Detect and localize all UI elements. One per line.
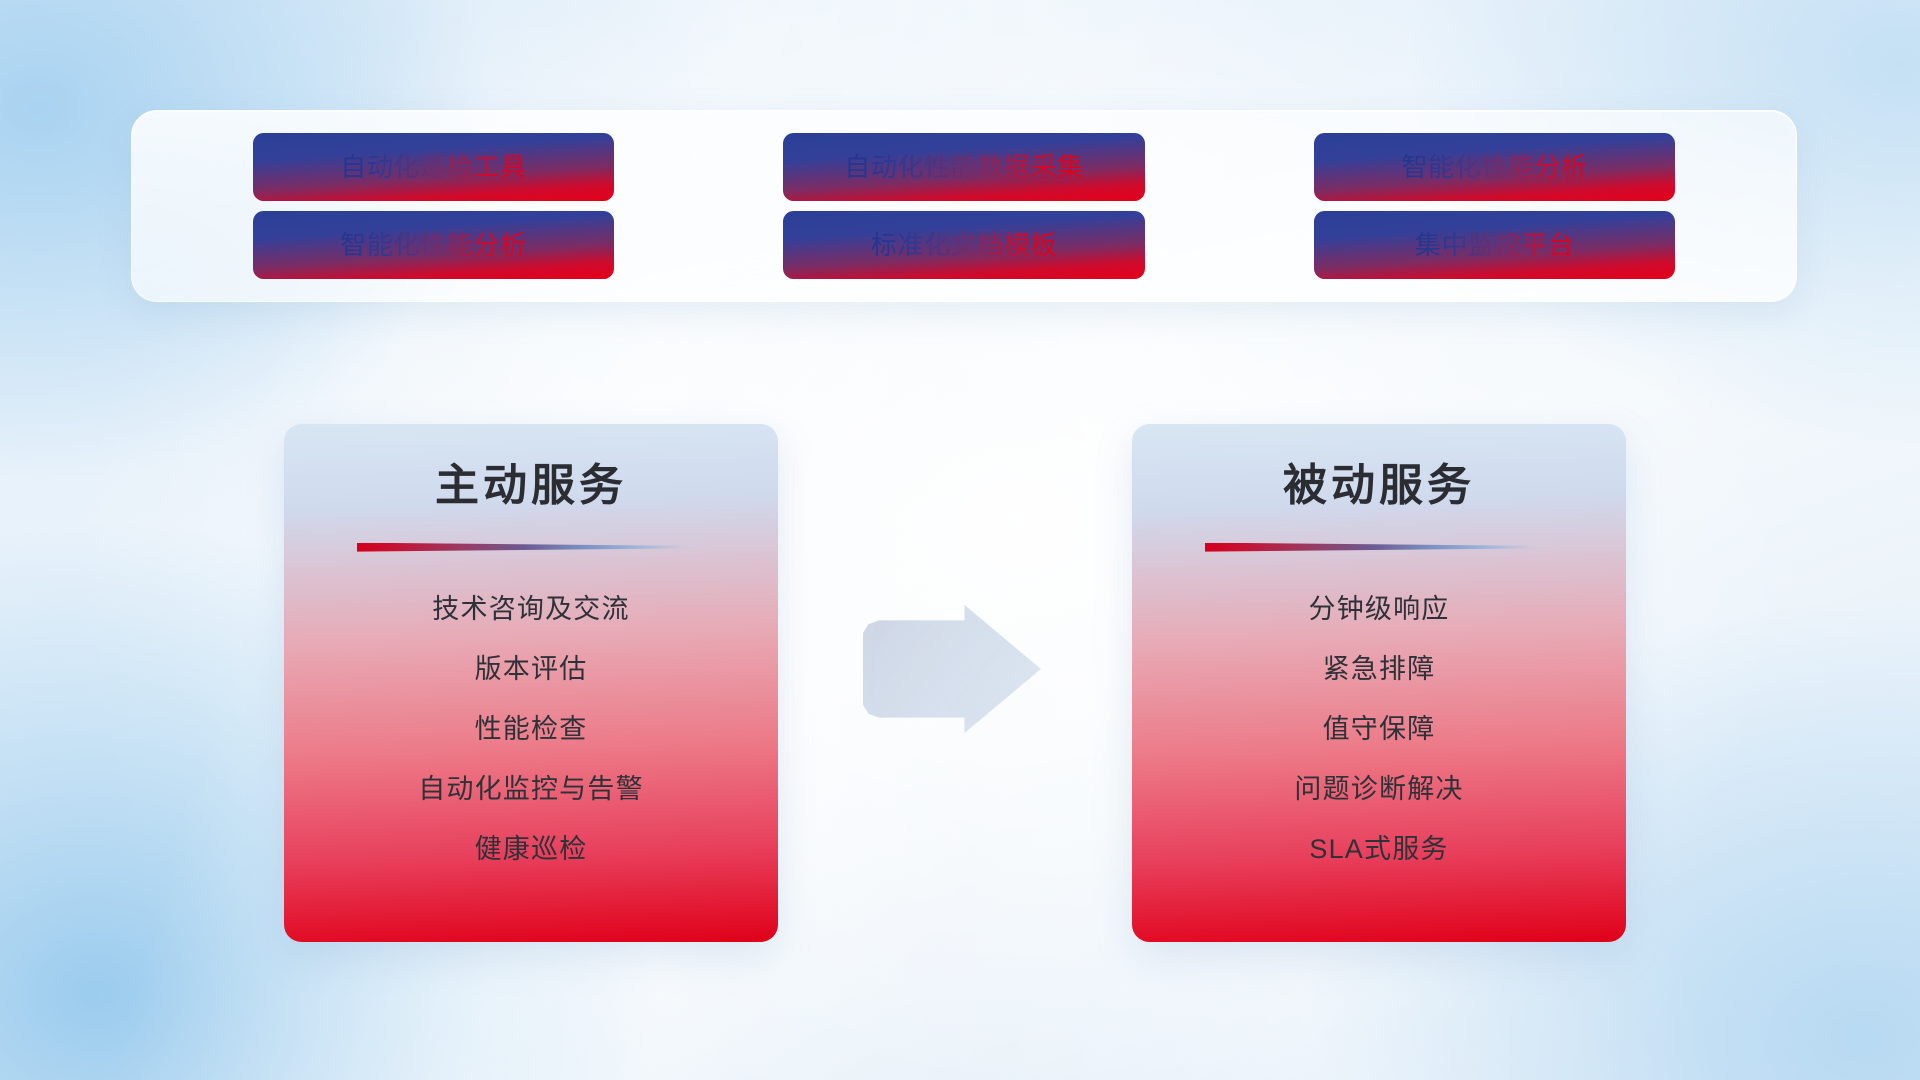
- service-card-active[interactable]: 主动服务 技术咨询及交流 版本评估 性能检查 自动化监控与告警 健康巡检: [285, 425, 777, 941]
- service-card-title: 被动服务: [1133, 461, 1625, 512]
- capability-tag-label: 智能化性能分析: [340, 232, 526, 258]
- capability-tag-panel: 自动化巡检工具 自动化性能数据采集 智能化性能分析 智能化性能分析 标准化文档模…: [131, 110, 1797, 302]
- diagram-stage: 自动化巡检工具 自动化性能数据采集 智能化性能分析 智能化性能分析 标准化文档模…: [0, 0, 1920, 1080]
- capability-tag-label: 集中监控平台: [1415, 232, 1575, 258]
- service-list-item[interactable]: 性能检查: [285, 700, 777, 760]
- capability-tag-label: 自动化巡检工具: [340, 154, 526, 180]
- service-list-item[interactable]: 技术咨询及交流: [285, 580, 777, 640]
- service-list-item[interactable]: 版本评估: [285, 640, 777, 700]
- capability-tag[interactable]: 智能化性能分析: [1316, 135, 1674, 199]
- capability-tag-label: 自动化性能数据采集: [844, 154, 1083, 180]
- capability-tag[interactable]: 集中监控平台: [1316, 213, 1674, 277]
- card-divider: [1205, 543, 1553, 552]
- service-card-title: 主动服务: [285, 461, 777, 512]
- capability-tag[interactable]: 标准化文档模板: [785, 213, 1143, 277]
- service-item-list: 分钟级响应 紧急排障 值守保障 问题诊断解决 SLA式服务: [1133, 580, 1625, 880]
- card-divider: [357, 543, 705, 552]
- capability-tag-label: 标准化文档模板: [871, 232, 1057, 258]
- service-list-item[interactable]: 值守保障: [1133, 700, 1625, 760]
- service-item-list: 技术咨询及交流 版本评估 性能检查 自动化监控与告警 健康巡检: [285, 580, 777, 880]
- service-list-item[interactable]: 自动化监控与告警: [285, 760, 777, 820]
- capability-tag[interactable]: 智能化性能分析: [254, 213, 612, 277]
- service-card-passive[interactable]: 被动服务 分钟级响应 紧急排障 值守保障 问题诊断解决 SLA式服务: [1133, 425, 1625, 941]
- arrow-right-icon: [863, 605, 1041, 733]
- capability-tag[interactable]: 自动化巡检工具: [254, 135, 612, 199]
- capability-tag-label: 智能化性能分析: [1402, 154, 1588, 180]
- service-list-item[interactable]: 分钟级响应: [1133, 580, 1625, 640]
- service-list-item[interactable]: 问题诊断解决: [1133, 760, 1625, 820]
- service-list-item[interactable]: SLA式服务: [1133, 820, 1625, 880]
- service-list-item[interactable]: 紧急排障: [1133, 640, 1625, 700]
- capability-tag[interactable]: 自动化性能数据采集: [785, 135, 1143, 199]
- service-list-item[interactable]: 健康巡检: [285, 820, 777, 880]
